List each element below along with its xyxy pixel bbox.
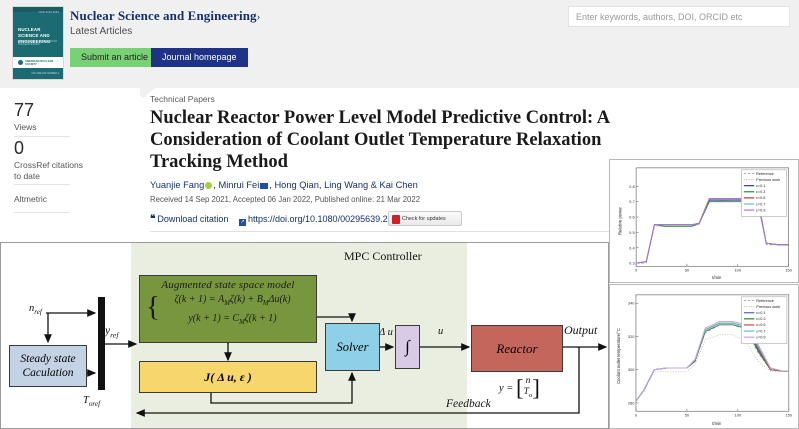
svg-text:150: 150 xyxy=(785,267,792,272)
svg-text:ε=0.5: ε=0.5 xyxy=(756,323,765,327)
crossmark-badge[interactable]: Check for updates xyxy=(388,211,462,226)
external-link-icon: ↗ xyxy=(239,219,246,226)
views-count: 77 xyxy=(14,100,34,121)
svg-text:ε=0.3: ε=0.3 xyxy=(756,190,765,194)
svg-text:280: 280 xyxy=(628,400,635,405)
n-ref-label: nref xyxy=(29,303,42,316)
publisher-logo-icon xyxy=(18,60,23,65)
svg-text:50: 50 xyxy=(685,267,690,272)
integrator-box: ∫ xyxy=(395,325,420,369)
publication-dates: Received 14 Sep 2021, Accepted 06 Jan 20… xyxy=(150,195,620,204)
feedback-label: Feedback xyxy=(446,398,491,410)
download-citation-link[interactable]: ❝Download citation xyxy=(150,214,228,225)
steady-state-line-1: Steady state xyxy=(20,352,75,366)
t-oref-label: Toref xyxy=(83,395,100,408)
svg-text:50: 50 xyxy=(685,412,690,417)
metrics-divider-2 xyxy=(14,184,70,185)
chart-2-svg: 050100150280300320340 ReferencePrevious … xyxy=(610,285,798,428)
cover-subtitle: THE JOURNAL OF THE AMERICAN NUCLEAR SOCI… xyxy=(18,40,60,46)
search-input[interactable] xyxy=(569,8,789,27)
svg-text:ε=0.7: ε=0.7 xyxy=(756,329,765,333)
mpc-controller-label: MPC Controller xyxy=(344,249,422,264)
svg-text:ε=0.9: ε=0.9 xyxy=(756,335,765,339)
author-sep-3: & xyxy=(368,180,379,190)
bracket-right-icon: ] xyxy=(532,375,540,400)
cover-issue-code: ISSN 0029-5639 xyxy=(39,11,59,14)
download-citation-label: Download citation xyxy=(157,214,228,224)
steady-state-line-2: Caculation xyxy=(20,366,75,380)
svg-text:150: 150 xyxy=(786,412,793,417)
solver-box: Solver xyxy=(325,323,380,371)
page-title: Nuclear Reactor Power Level Model Predic… xyxy=(150,107,620,173)
svg-text:Reference: Reference xyxy=(756,172,774,176)
cover-publisher: AMERICAN NUCLEAR SOCIETY xyxy=(25,60,64,66)
output-vector-label: y = [nTo] xyxy=(499,376,540,401)
model-equations: { ζ(k + 1) = AMζ(k) + BMΔu(k) y(k + 1) =… xyxy=(145,292,311,330)
journal-homepage-button[interactable]: Journal homepage xyxy=(151,48,248,67)
y-ref-label: yref xyxy=(105,325,119,339)
svg-text:ε=0.1: ε=0.1 xyxy=(756,311,765,315)
model-equation-2: y(k + 1) = CMζ(k + 1) xyxy=(154,311,311,330)
bracket-left-icon: [ xyxy=(516,375,524,400)
search-box[interactable] xyxy=(568,6,790,27)
chart-1-xlabel: t/min xyxy=(712,275,722,280)
figure-coolant-temperature-chart: 050100150280300320340 ReferencePrevious … xyxy=(609,284,799,429)
metrics-sidebar: 77 Views 0 CrossRef citations to date Al… xyxy=(0,88,140,238)
svg-text:ε=0.5: ε=0.5 xyxy=(756,196,765,200)
figure-relative-power-chart: 0501001500.30.40.50.60.70.8 ReferencePre… xyxy=(609,159,799,283)
svg-text:340: 340 xyxy=(628,301,635,306)
submit-article-button[interactable]: Submit an article xyxy=(70,48,159,67)
journal-cover-image[interactable]: ISSN 0029-5639 NUCLEAR SCIENCE AND ENGIN… xyxy=(12,6,64,80)
chart-2-xlabel: t/min xyxy=(712,421,722,426)
y-vector-stack: nTo xyxy=(524,376,533,401)
crossmark-icon xyxy=(392,215,400,224)
article-header: Technical Papers Nuclear Reactor Power L… xyxy=(150,94,620,229)
breadcrumb-latest-articles[interactable]: Latest Articles xyxy=(70,26,132,37)
reactor-box: Reactor xyxy=(471,325,563,372)
altmetric-label: Altmetric xyxy=(14,194,47,205)
article-divider xyxy=(150,231,612,232)
metrics-divider-3 xyxy=(14,212,70,213)
svg-text:100: 100 xyxy=(735,412,742,417)
article-type-label: Technical Papers xyxy=(150,94,620,104)
chart-2-ylabel: Coolant outlet temperature/°C xyxy=(616,328,621,384)
chart-1-svg: 0501001500.30.40.50.60.70.8 ReferencePre… xyxy=(610,160,798,282)
crossmark-label: Check for updates xyxy=(402,216,446,222)
augmented-state-space-model-box: Augmented state space model { ζ(k + 1) =… xyxy=(139,275,317,343)
svg-text:0: 0 xyxy=(635,412,638,417)
author-list: Yuanjie Fang, Minrui Fei, Hong Qian, Lin… xyxy=(150,179,620,192)
svg-text:100: 100 xyxy=(735,267,742,272)
svg-text:ε=0.9: ε=0.9 xyxy=(756,208,765,212)
svg-text:0.5: 0.5 xyxy=(629,230,635,235)
u-label: u xyxy=(438,326,443,337)
output-label: Output xyxy=(564,323,597,338)
author-name-4[interactable]: Kai Chen xyxy=(380,180,418,190)
figure-mpc-block-diagram: Steady state Caculation Augmented state … xyxy=(0,242,609,429)
svg-text:0.8: 0.8 xyxy=(629,184,635,189)
svg-text:0: 0 xyxy=(635,267,638,272)
chart-2-legend: ReferencePrevious workε=0.1ε=0.3ε=0.5ε=0… xyxy=(741,297,786,344)
author-name-1[interactable]: Minrui Fei xyxy=(218,180,259,190)
svg-text:ε=0.3: ε=0.3 xyxy=(756,317,765,321)
author-name-2[interactable]: Hong Qian xyxy=(274,180,318,190)
journal-title-text: Nuclear Science and Engineering xyxy=(70,8,257,23)
site-header: ISSN 0029-5639 NUCLEAR SCIENCE AND ENGIN… xyxy=(0,0,799,88)
steady-state-calculation-box: Steady state Caculation xyxy=(9,345,87,387)
crossref-citations-label: CrossRef citations to date xyxy=(14,160,84,182)
chevron-right-icon: › xyxy=(257,11,261,23)
svg-text:Previous work: Previous work xyxy=(756,305,780,309)
y-vec-top: n xyxy=(526,376,531,386)
views-label: Views xyxy=(14,122,37,133)
delta-u-label: Δ u xyxy=(379,327,393,338)
svg-text:0.7: 0.7 xyxy=(629,199,634,204)
y-equals-label: y = xyxy=(499,383,513,394)
svg-text:ε=0.7: ε=0.7 xyxy=(756,202,765,206)
cover-publisher-band: AMERICAN NUCLEAR SOCIETY xyxy=(13,57,64,68)
author-name-3[interactable]: Ling Wang xyxy=(324,180,368,190)
multiplexer-bar xyxy=(98,297,105,390)
brace-icon: { xyxy=(146,292,160,322)
author-name-0[interactable]: Yuanjie Fang xyxy=(150,180,204,190)
svg-text:300: 300 xyxy=(628,367,635,372)
model-title: Augmented state space model xyxy=(145,279,311,291)
orcid-icon[interactable] xyxy=(205,182,212,189)
cover-footer-code: VOLUME 196 NUMBER 4 xyxy=(31,72,59,75)
cost-function-box: J( Δ u, ε ) xyxy=(139,361,317,393)
metrics-divider-1 xyxy=(14,136,70,137)
svg-text:0.6: 0.6 xyxy=(629,215,635,220)
page-root: ISSN 0029-5639 NUCLEAR SCIENCE AND ENGIN… xyxy=(0,0,799,429)
svg-text:Reference: Reference xyxy=(756,299,774,303)
model-equation-1: ζ(k + 1) = AMζ(k) + BMΔu(k) xyxy=(154,292,311,311)
svg-text:320: 320 xyxy=(628,334,635,339)
email-icon[interactable] xyxy=(260,183,268,189)
chart-1-legend: ReferencePrevious workε=0.1ε=0.3ε=0.5ε=0… xyxy=(741,170,786,217)
quote-icon: ❝ xyxy=(150,214,155,225)
svg-text:0.4: 0.4 xyxy=(629,245,635,250)
svg-text:0.3: 0.3 xyxy=(629,261,635,266)
journal-title-link[interactable]: Nuclear Science and Engineering› xyxy=(70,8,260,24)
article-action-bar: ❝Download citation ↗https://doi.org/10.1… xyxy=(150,213,620,229)
crossref-citations-count: 0 xyxy=(14,138,24,159)
chart-1-ylabel: Relative power xyxy=(617,206,622,234)
svg-text:ε=0.1: ε=0.1 xyxy=(756,184,765,188)
svg-text:Previous work: Previous work xyxy=(756,178,780,182)
